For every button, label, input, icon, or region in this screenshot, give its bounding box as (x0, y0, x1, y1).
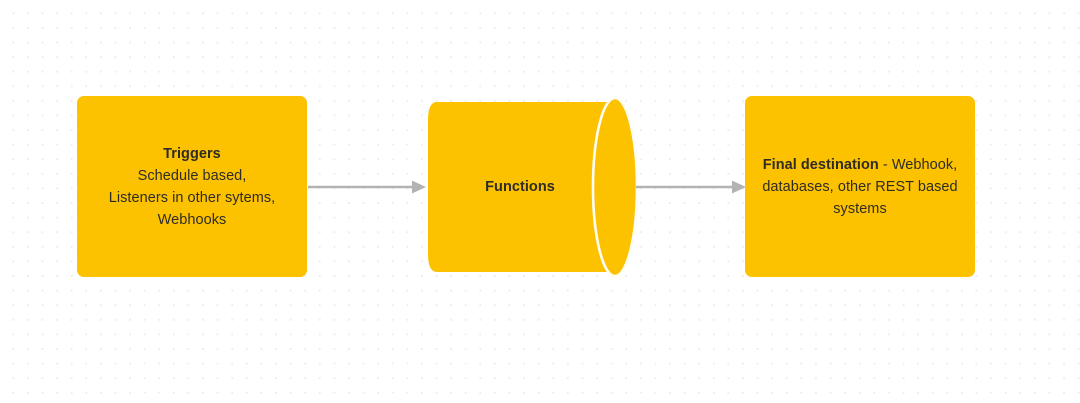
diagram-canvas: Triggers Schedule based, Listeners in ot… (0, 0, 1080, 403)
arrow-triggers-to-functions (308, 177, 426, 197)
node-triggers-line-3: Webhooks (158, 212, 227, 228)
node-functions[interactable]: Functions (425, 94, 641, 280)
node-final-destination-line-2: databases, other REST based (762, 179, 957, 195)
node-final-destination-line-3: systems (833, 201, 887, 217)
node-final-destination[interactable]: Final destination - Webhook, databases, … (745, 96, 975, 277)
node-final-destination-separator: - (879, 157, 892, 173)
node-triggers-line-1: Schedule based, (138, 168, 247, 184)
node-final-destination-text: Final destination - Webhook, databases, … (748, 154, 971, 220)
node-functions-title: Functions (425, 94, 615, 280)
node-triggers[interactable]: Triggers Schedule based, Listeners in ot… (77, 96, 307, 277)
node-triggers-title: Triggers (163, 146, 221, 162)
node-triggers-text: Triggers Schedule based, Listeners in ot… (95, 143, 290, 231)
node-triggers-line-2: Listeners in other sytems, (109, 190, 276, 206)
node-final-destination-title: Final destination (763, 157, 879, 173)
arrow-functions-to-destination (636, 177, 746, 197)
node-final-destination-line-1: Webhook, (892, 157, 957, 173)
